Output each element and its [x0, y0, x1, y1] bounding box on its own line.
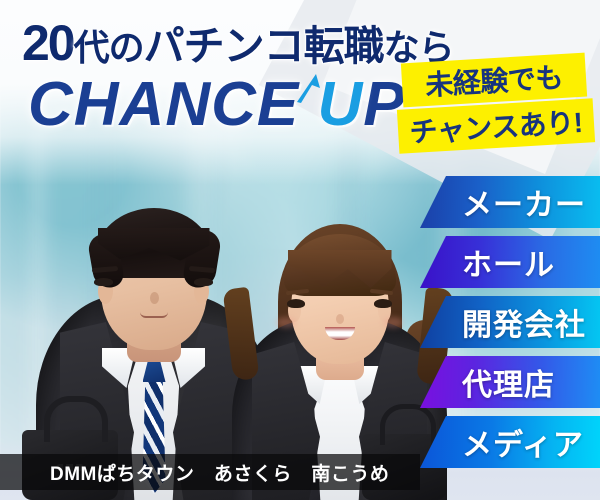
- people-photo-group: [0, 140, 440, 500]
- brand-logo-accent-letter: U: [317, 74, 363, 136]
- businessman-nose: [150, 292, 159, 304]
- headline-text: 20代のパチンコ転職なら: [22, 18, 454, 68]
- category-button-maker[interactable]: メーカー: [420, 176, 600, 228]
- category-button-developer-label: 開発会社: [462, 300, 586, 344]
- category-button-media-label: メディア: [462, 420, 584, 464]
- businessman-eye-right: [194, 278, 213, 286]
- category-button-developer[interactable]: 開発会社: [420, 296, 600, 348]
- category-button-hall[interactable]: ホール: [420, 236, 600, 288]
- businesswoman-nose: [336, 314, 344, 324]
- businesswoman-cheek-right: [383, 317, 403, 328]
- promo-banner: 20代のパチンコ転職なら CHANCE UP 未経験でも チャンスあり! メーカ…: [0, 0, 600, 500]
- category-button-maker-label: メーカー: [462, 180, 586, 224]
- businesswoman-eye-left: [287, 299, 305, 308]
- headline-number: 20: [22, 15, 74, 71]
- category-button-agency[interactable]: 代理店: [420, 356, 600, 408]
- headline-part1: 代の: [74, 27, 144, 68]
- category-button-list: メーカー ホール 開発会社 代理店 メディア: [420, 176, 600, 476]
- brand-logo: CHANCE UP: [28, 74, 406, 136]
- caption-bar: DMMぱちタウン あさくら 南こうめ: [0, 454, 420, 490]
- promo-badge: 未経験でも チャンスあり!: [396, 56, 596, 156]
- businesswoman-cheek-left: [276, 317, 296, 328]
- businessman-mouth: [140, 312, 168, 318]
- category-button-agency-label: 代理店: [462, 360, 555, 404]
- brand-logo-main: CHANCE: [28, 70, 317, 139]
- businesswoman-eye-right: [374, 299, 392, 308]
- headline-part2: パチンコ: [144, 23, 304, 69]
- caption-text: DMMぱちタウン あさくら 南こうめ: [50, 459, 389, 486]
- category-button-media[interactable]: メディア: [420, 416, 600, 468]
- category-button-hall-label: ホール: [462, 240, 555, 284]
- businessman-eye-left: [94, 278, 113, 286]
- headline-part3: 転職: [304, 23, 384, 69]
- promo-badge-line2: チャンスあり!: [397, 98, 595, 154]
